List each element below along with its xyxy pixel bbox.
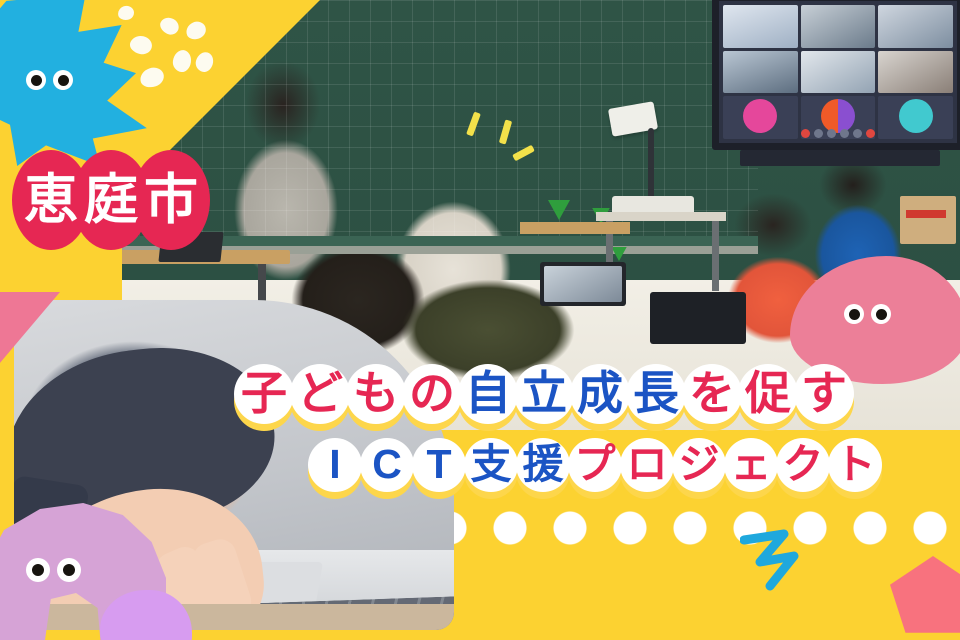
- headline-char: ど: [288, 362, 352, 430]
- city-badge-lump: 市: [132, 150, 210, 250]
- headline-char-glyph: 子: [241, 370, 287, 416]
- classroom-display: [712, 0, 960, 150]
- green-triangle-doodle: [611, 247, 626, 261]
- participant-avatar: [743, 99, 777, 133]
- eye-icon: [57, 558, 81, 582]
- mascot-eyes: [26, 558, 81, 582]
- headline-char-glyph: 立: [521, 370, 567, 416]
- headline-char-glyph: プ: [575, 444, 616, 485]
- banner-root: 恵 庭 市 子どもの自立成長を促す ICT支援プロジェクト: [0, 0, 960, 640]
- headline-char-glyph: ト: [835, 444, 876, 485]
- headline-char-glyph: 促: [745, 370, 791, 416]
- table-surface: [14, 604, 454, 630]
- headline-char: ク: [774, 436, 832, 498]
- eye-icon: [871, 304, 891, 324]
- headline-char: 長: [624, 362, 688, 430]
- headline-char-glyph: す: [801, 370, 847, 416]
- video-tile: [801, 5, 876, 48]
- participants-icon: [840, 129, 849, 138]
- video-tile: [878, 96, 953, 139]
- headline-char: ロ: [618, 436, 676, 498]
- student-laptop: [650, 292, 746, 344]
- city-badge-char: 恵: [24, 173, 78, 227]
- camera-icon: [814, 129, 823, 138]
- headline-char-glyph: も: [353, 370, 399, 416]
- headline-char: 子: [232, 362, 296, 430]
- video-call-grid: [723, 5, 953, 139]
- video-call-toolbar: [801, 129, 875, 138]
- headline-line-1: 子どもの自立成長を促す: [232, 362, 878, 430]
- student-laptop: [540, 262, 626, 306]
- eye-icon: [844, 304, 864, 324]
- headline-char-glyph: ロ: [627, 444, 668, 485]
- headline-char: ト: [826, 436, 884, 498]
- end-call-icon: [866, 129, 875, 138]
- headline-char: 促: [736, 362, 800, 430]
- headline-char-glyph: ェ: [731, 444, 772, 485]
- mascot-eyes: [26, 70, 73, 90]
- headline-char-glyph: 援: [523, 444, 564, 485]
- side-desk-leg: [712, 221, 719, 291]
- headline-char-glyph: ど: [297, 370, 343, 416]
- video-tile: [878, 51, 953, 94]
- headline-char-glyph: を: [689, 370, 735, 416]
- video-tile: [801, 51, 876, 94]
- blue-zigzag-doodle: [740, 528, 812, 592]
- video-tile: [723, 96, 798, 139]
- headline-char: 立: [512, 362, 576, 430]
- headline-char: C: [358, 436, 416, 498]
- headline-char: す: [792, 362, 856, 430]
- headline-char: プ: [566, 436, 624, 498]
- display-stand: [740, 150, 940, 166]
- headline-char: 成: [568, 362, 632, 430]
- headline-char-glyph: 支: [471, 444, 512, 485]
- headline-char: 自: [456, 362, 520, 430]
- headline-char-glyph: T: [426, 444, 451, 485]
- cardboard-box: [900, 196, 956, 244]
- headline-char: I: [306, 436, 364, 498]
- headline-char: ェ: [722, 436, 780, 498]
- headline-char-glyph: 自: [465, 370, 511, 416]
- video-tile: [723, 51, 798, 94]
- headline-char-glyph: ジ: [679, 444, 720, 485]
- green-triangle-doodle: [548, 200, 570, 220]
- headline-char: も: [344, 362, 408, 430]
- city-badge-char: 市: [144, 173, 198, 227]
- video-tile: [878, 5, 953, 48]
- participant-avatar: [821, 99, 855, 133]
- chat-icon: [853, 129, 862, 138]
- city-badge: 恵 庭 市: [12, 150, 192, 250]
- video-tile: [723, 5, 798, 48]
- side-desk: [596, 212, 726, 221]
- mute-icon: [801, 129, 810, 138]
- headline-char: ジ: [670, 436, 728, 498]
- headline-char-glyph: 成: [577, 370, 623, 416]
- box-tape: [906, 210, 946, 218]
- eye-icon: [53, 70, 73, 90]
- headline-char: 援: [514, 436, 572, 498]
- headline-char: T: [410, 436, 468, 498]
- headline-char-glyph: ク: [783, 444, 824, 485]
- headline-char-glyph: C: [372, 444, 402, 485]
- share-icon: [827, 129, 836, 138]
- pink-triangle-doodle: [0, 292, 60, 370]
- mascot-eyes: [844, 304, 891, 324]
- headline-char: 支: [462, 436, 520, 498]
- student-desk: [520, 222, 630, 234]
- participant-avatar: [899, 99, 933, 133]
- laptop-screen: [544, 266, 622, 302]
- city-badge-char: 庭: [84, 173, 138, 227]
- eye-icon: [26, 558, 50, 582]
- headline-char-glyph: I: [329, 444, 340, 485]
- headline-char-glyph: 長: [633, 370, 679, 416]
- headline-char: を: [680, 362, 744, 430]
- eye-icon: [26, 70, 46, 90]
- headline-char-glyph: の: [409, 370, 455, 416]
- headline-line-2: ICT支援プロジェクト: [306, 436, 878, 498]
- headline: 子どもの自立成長を促す ICT支援プロジェクト: [232, 362, 878, 498]
- document-camera-arm: [648, 128, 654, 204]
- headline-char: の: [400, 362, 464, 430]
